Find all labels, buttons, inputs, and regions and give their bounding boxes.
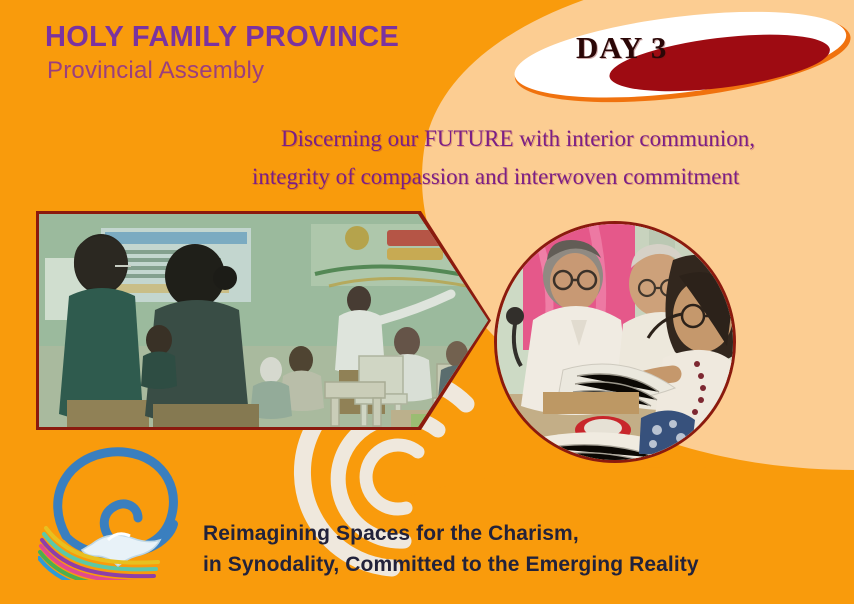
tagline-line-2: in Synodality, Committed to the Emerging… — [203, 549, 823, 580]
page-title: HOLY FAMILY PROVINCE — [45, 22, 399, 52]
page-subtitle: Provincial Assembly — [47, 58, 399, 83]
tagline-line-1: Reimagining Spaces for the Charism, — [203, 518, 823, 549]
day-badge-label: DAY 3 — [576, 30, 667, 66]
header-title-block: HOLY FAMILY PROVINCE Provincial Assembly — [45, 22, 399, 84]
assembly-theme: Discerning our FUTURE with interior comm… — [0, 120, 854, 196]
congregation-logo — [38, 440, 198, 580]
photo-image — [39, 214, 488, 427]
sisters-reading-photo — [494, 221, 736, 463]
assembly-hall-photo — [36, 211, 491, 430]
theme-line-1: Discerning our FUTURE with interior comm… — [281, 120, 854, 158]
day-badge: DAY 3 — [503, 6, 854, 114]
theme-line-2: integrity of compassion and interwoven c… — [252, 158, 854, 196]
poster-canvas: HOLY FAMILY PROVINCE Provincial Assembly… — [0, 0, 854, 604]
assembly-tagline: Reimagining Spaces for the Charism, in S… — [203, 518, 823, 580]
